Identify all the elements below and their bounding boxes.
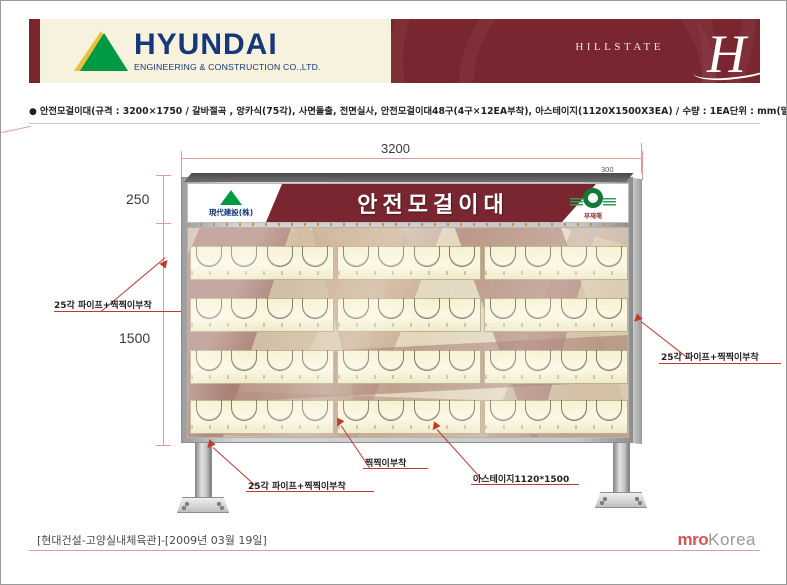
helmet-rack-panel <box>337 400 481 434</box>
green-triangle-icon <box>220 190 242 205</box>
dim-header-line <box>163 175 164 223</box>
header-banner: HYUNDAI ENGINEERING & CONSTRUCTION CO.,L… <box>29 19 760 83</box>
helmet-slot-notch <box>378 350 404 371</box>
specification-line: ●안전모걸이대(규격 : 3200×1750 / 갈바절곡 , 앙카식(75각)… <box>29 103 760 117</box>
mro-name: Korea <box>708 530 756 549</box>
helmet-slot-notch <box>196 298 222 319</box>
helmet-slot-notch <box>196 246 222 267</box>
mro-korea-logo: mroKorea <box>678 531 757 548</box>
shelf-row <box>188 246 628 280</box>
shelf-perforation <box>338 323 480 327</box>
callout-underline <box>659 363 781 364</box>
dim-depth-line <box>1 126 31 134</box>
helmet-slot-notch <box>525 400 551 421</box>
anchor-bolt <box>603 497 607 501</box>
helmet-slot-notch <box>596 350 622 371</box>
board-frame: 現代建設(株) 안전모걸이대 무재해 <box>181 177 633 443</box>
helmet-rack-panel <box>190 400 334 434</box>
helmet-rack-panel <box>337 246 481 280</box>
helmet-slot-notch <box>231 298 257 319</box>
helmet-slot-notch <box>414 246 440 267</box>
callout-astage: 아스테이지1120*1500 <box>473 472 569 485</box>
spec-divider <box>29 123 760 124</box>
shelf-perforation <box>485 375 627 379</box>
helmet-slot-notch <box>449 400 475 421</box>
helmet-slot-notch <box>267 298 293 319</box>
shelf-perforation <box>485 323 627 327</box>
helmet-slot-notch <box>490 350 516 371</box>
helmet-slot-notch <box>267 350 293 371</box>
shelf-perforation <box>485 271 627 275</box>
spec-description-wrap: ●안전모걸이대(규격 : 3200×1750 / 갈바절곡 , 앙카식(75각)… <box>29 103 730 117</box>
helmet-rack-panel <box>190 298 334 332</box>
anchor-bolt <box>220 506 224 510</box>
base-plate-right <box>595 492 647 508</box>
dim-body-tick-bottom <box>156 445 171 446</box>
shelf-perforation <box>191 323 333 327</box>
shelf-perforation <box>191 425 333 429</box>
unit-label: 단위 : mm(밀리미터) <box>730 103 787 117</box>
shelf-perforation <box>338 375 480 379</box>
helmet-rack-panel <box>484 246 628 280</box>
spec-description: 안전모걸이대(규격 : 3200×1750 / 갈바절곡 , 앙카식(75각),… <box>40 106 730 117</box>
safety-zero-accident-logo: 무재해 <box>562 187 624 221</box>
hyundai-kanji-logo: 現代建設(株) <box>194 187 268 221</box>
anchor-bolt <box>185 502 189 506</box>
helmet-slot-notch <box>596 246 622 267</box>
green-ring-icon <box>583 188 603 208</box>
bullet-icon: ● <box>29 107 37 117</box>
anchor-bolt <box>638 501 642 505</box>
helmet-slot-notch <box>378 246 404 267</box>
helmet-slot-notch <box>343 350 369 371</box>
helmet-slot-notch <box>449 246 475 267</box>
banner-rivet-strip <box>187 223 629 226</box>
helmet-slot-notch <box>343 400 369 421</box>
helmet-slot-notch <box>525 246 551 267</box>
callout-velcro: 찍찍이부착 <box>365 456 406 469</box>
helmet-slot-notch <box>267 246 293 267</box>
board-banner: 現代建設(株) 안전모걸이대 무재해 <box>187 183 629 223</box>
helmet-rack-panel <box>190 246 334 280</box>
shelf-row <box>188 350 628 384</box>
dim-width-line <box>181 158 642 159</box>
banner-title: 안전모걸이대 <box>288 184 578 222</box>
banner-left-logo-label: 現代建設(株) <box>209 207 253 218</box>
hillstate-wordmark: HILLSTATE <box>575 41 664 53</box>
dim-header-label: 250 <box>126 191 149 207</box>
helmet-slot-notch <box>414 350 440 371</box>
dim-depth-ext <box>641 143 642 173</box>
helmet-slot-notch <box>302 298 328 319</box>
shelf-row <box>188 298 628 332</box>
base-plate-left <box>177 497 229 513</box>
helmet-slot-notch <box>231 246 257 267</box>
shelf-row <box>188 400 628 434</box>
callout-right-pipe: 25각 파이프+찍찍이부착 <box>661 350 759 363</box>
brand-name: HYUNDAI <box>134 30 317 60</box>
helmet-slot-notch <box>525 298 551 319</box>
dim-body-label: 1500 <box>119 330 150 346</box>
helmet-slot-notch <box>561 298 587 319</box>
helmet-slot-notch <box>449 350 475 371</box>
shelf-perforation <box>191 271 333 275</box>
signboard: 現代建設(株) 안전모걸이대 무재해 <box>181 177 647 447</box>
helmet-slot-notch <box>525 350 551 371</box>
helmet-slot-notch <box>561 400 587 421</box>
shelf-perforation <box>485 425 627 429</box>
helmet-rack-panel <box>337 350 481 384</box>
anchor-bolt <box>600 501 604 505</box>
helmet-slot-notch <box>196 350 222 371</box>
helmet-slot-notch <box>561 350 587 371</box>
helmet-slot-notch <box>267 400 293 421</box>
helmet-slot-notch <box>414 298 440 319</box>
drawing-stage: 3200 250 1500 300 <box>1 129 787 529</box>
helmet-rack-panel <box>190 350 334 384</box>
shelf-perforation <box>338 271 480 275</box>
helmet-rack-panel <box>337 298 481 332</box>
helmet-slot-notch <box>378 298 404 319</box>
helmet-rack-panel-area <box>187 227 629 438</box>
helmet-slot-notch <box>596 298 622 319</box>
drawing-page: HYUNDAI ENGINEERING & CONSTRUCTION CO.,L… <box>0 0 787 585</box>
helmet-slot-notch <box>231 400 257 421</box>
helmet-slot-notch <box>302 350 328 371</box>
board-top-face <box>184 173 634 182</box>
helmet-slot-notch <box>378 400 404 421</box>
banner-right-logo-label: 무재해 <box>584 210 602 220</box>
callout-left-pipe: 25각 파이프+찍찍이부착 <box>54 298 152 311</box>
helmet-slot-notch <box>343 298 369 319</box>
helmet-rack-panel <box>484 400 628 434</box>
helmet-rack-panel <box>484 298 628 332</box>
project-footer-label: [현대건설-고양실내체육관]-[2009년 03월 19일] <box>37 532 267 548</box>
dim-header-tick-top <box>156 175 171 176</box>
helmet-slot-notch <box>490 400 516 421</box>
helmet-slot-notch <box>490 298 516 319</box>
shelf-perforation <box>191 375 333 379</box>
hyundai-logo-plate: HYUNDAI ENGINEERING & CONSTRUCTION CO.,L… <box>29 19 391 83</box>
helmet-slot-notch <box>449 298 475 319</box>
hyundai-wordmark: HYUNDAI ENGINEERING & CONSTRUCTION CO.,L… <box>134 30 317 72</box>
helmet-slot-notch <box>231 350 257 371</box>
helmet-slot-notch <box>490 246 516 267</box>
brand-subtitle: ENGINEERING & CONSTRUCTION CO.,LTD. <box>134 63 321 72</box>
dim-width-label: 3200 <box>381 141 410 156</box>
footer-divider <box>29 550 760 551</box>
helmet-slot-notch <box>596 400 622 421</box>
callout-bottom-pipe: 25각 파이프+찍찍이부착 <box>248 479 346 492</box>
hillstate-monogram-icon: H <box>707 27 746 81</box>
anchor-bolt <box>182 506 186 510</box>
callout-underline <box>54 311 181 312</box>
mro-mark: mro <box>678 530 709 549</box>
helmet-rack-panel <box>484 350 628 384</box>
helmet-slot-notch <box>302 246 328 267</box>
helmet-slot-notch <box>561 246 587 267</box>
hyundai-triangle-icon <box>74 31 128 71</box>
helmet-slot-notch <box>196 400 222 421</box>
shelf-perforation <box>338 425 480 429</box>
helmet-slot-notch <box>414 400 440 421</box>
helmet-slot-notch <box>302 400 328 421</box>
helmet-slot-notch <box>343 246 369 267</box>
